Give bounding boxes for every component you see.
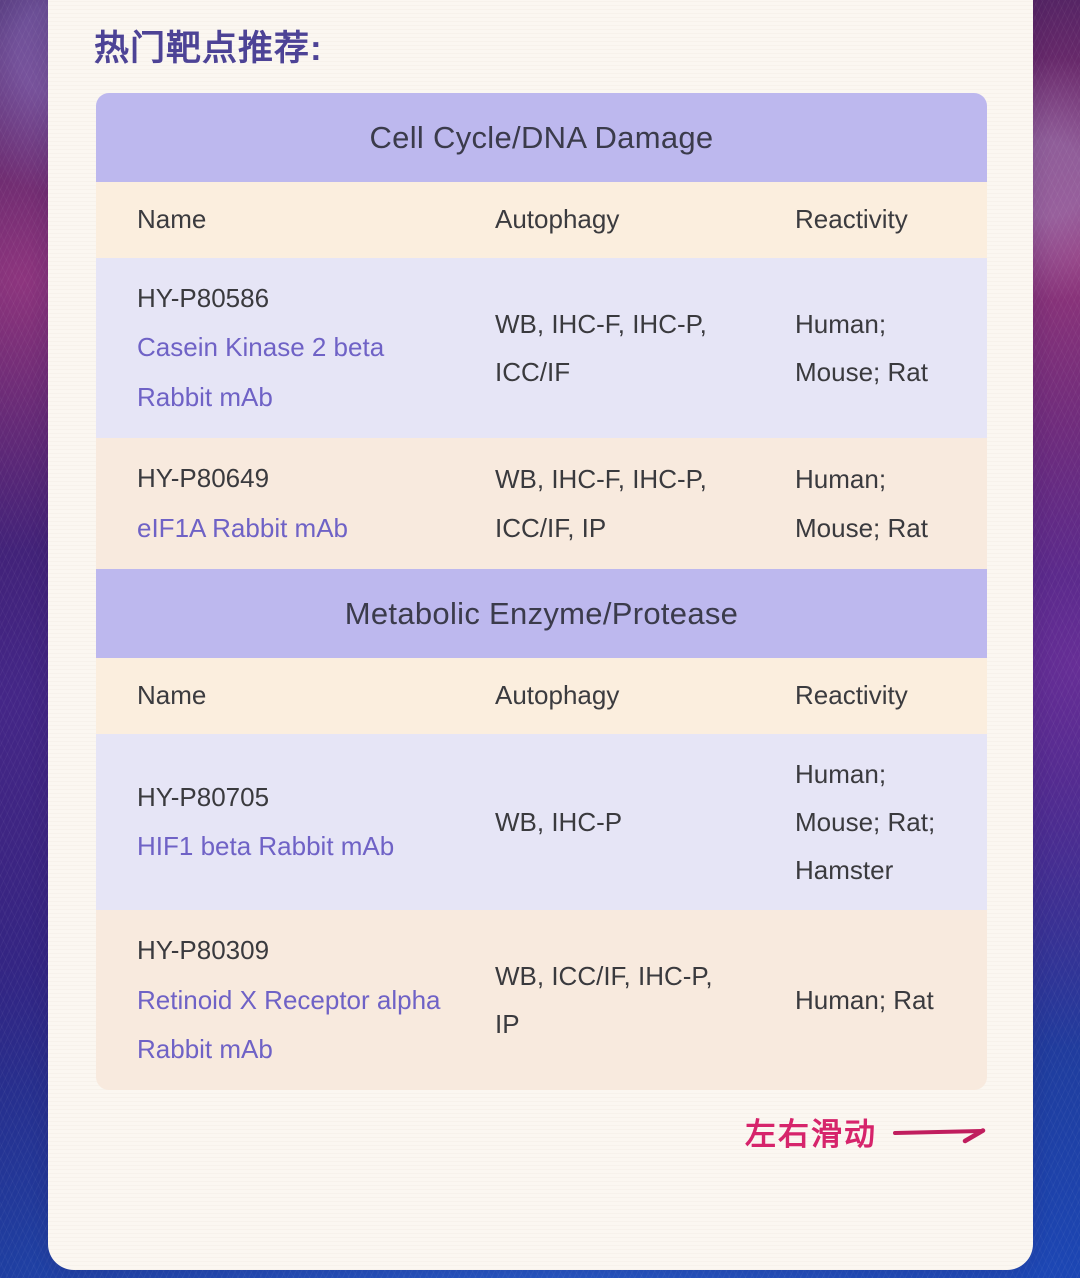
product-link[interactable]: Casein Kinase 2 beta Rabbit mAb <box>137 323 442 422</box>
name-cell: HY-P80705 HIF1 beta Rabbit mAb <box>96 757 454 888</box>
column-header-name: Name <box>96 204 454 235</box>
name-cell: HY-P80309 Retinoid X Receptor alpha Rabb… <box>96 910 454 1090</box>
swipe-hint-label: 左右滑动 <box>745 1109 877 1154</box>
name-cell: HY-P80649 eIF1A Rabbit mAb <box>96 438 454 569</box>
catalog-number: HY-P80649 <box>137 454 442 503</box>
applications-cell: WB, ICC/IF, IHC-P, IP <box>454 936 754 1064</box>
column-header-autophagy: Autophagy <box>454 680 754 711</box>
applications-cell: WB, IHC-F, IHC-P, ICC/IF <box>454 284 754 412</box>
column-header-autophagy: Autophagy <box>454 204 754 235</box>
table-metabolic-enzyme-protease: Metabolic Enzyme/Protease Name Autophagy… <box>96 569 987 1090</box>
table-cell-cycle-dna-damage: Cell Cycle/DNA Damage Name Autophagy Rea… <box>96 93 987 569</box>
swipe-hint: 左右滑动 <box>745 1109 987 1154</box>
name-cell: HY-P80586 Casein Kinase 2 beta Rabbit mA… <box>96 258 454 438</box>
product-link[interactable]: eIF1A Rabbit mAb <box>137 504 442 553</box>
product-link[interactable]: HIF1 beta Rabbit mAb <box>137 822 442 871</box>
column-header-name: Name <box>96 680 454 711</box>
column-header-row: Name Autophagy Reactivity <box>96 182 987 258</box>
page-title: 热门靶点推荐: <box>94 20 323 71</box>
table-row[interactable]: HY-P80649 eIF1A Rabbit mAb WB, IHC-F, IH… <box>96 438 987 569</box>
catalog-number: HY-P80586 <box>137 274 442 323</box>
applications-cell: WB, IHC-F, IHC-P, ICC/IF, IP <box>454 439 754 567</box>
arrow-right-icon <box>893 1119 987 1145</box>
product-link[interactable]: Retinoid X Receptor alpha Rabbit mAb <box>137 976 442 1075</box>
column-header-reactivity: Reactivity <box>754 680 987 711</box>
reactivity-cell: Human; Mouse; Rat; Hamster <box>754 734 987 910</box>
column-header-reactivity: Reactivity <box>754 204 987 235</box>
applications-cell: WB, IHC-P <box>454 782 754 862</box>
table-row[interactable]: HY-P80309 Retinoid X Receptor alpha Rabb… <box>96 910 987 1090</box>
column-header-row: Name Autophagy Reactivity <box>96 658 987 734</box>
content-card: 热门靶点推荐: Cell Cycle/DNA Damage Name Autop… <box>48 0 1033 1270</box>
catalog-number: HY-P80705 <box>137 773 442 822</box>
reactivity-cell: Human; Mouse; Rat <box>754 284 987 412</box>
catalog-number: HY-P80309 <box>137 926 442 975</box>
target-tables: Cell Cycle/DNA Damage Name Autophagy Rea… <box>96 93 987 1090</box>
section-header-cell-cycle-dna-damage: Cell Cycle/DNA Damage <box>96 93 987 182</box>
reactivity-cell: Human; Mouse; Rat <box>754 439 987 567</box>
table-row[interactable]: HY-P80586 Casein Kinase 2 beta Rabbit mA… <box>96 258 987 438</box>
reactivity-cell: Human; Rat <box>754 960 987 1040</box>
table-row[interactable]: HY-P80705 HIF1 beta Rabbit mAb WB, IHC-P… <box>96 734 987 910</box>
section-header-metabolic-enzyme-protease: Metabolic Enzyme/Protease <box>96 569 987 658</box>
